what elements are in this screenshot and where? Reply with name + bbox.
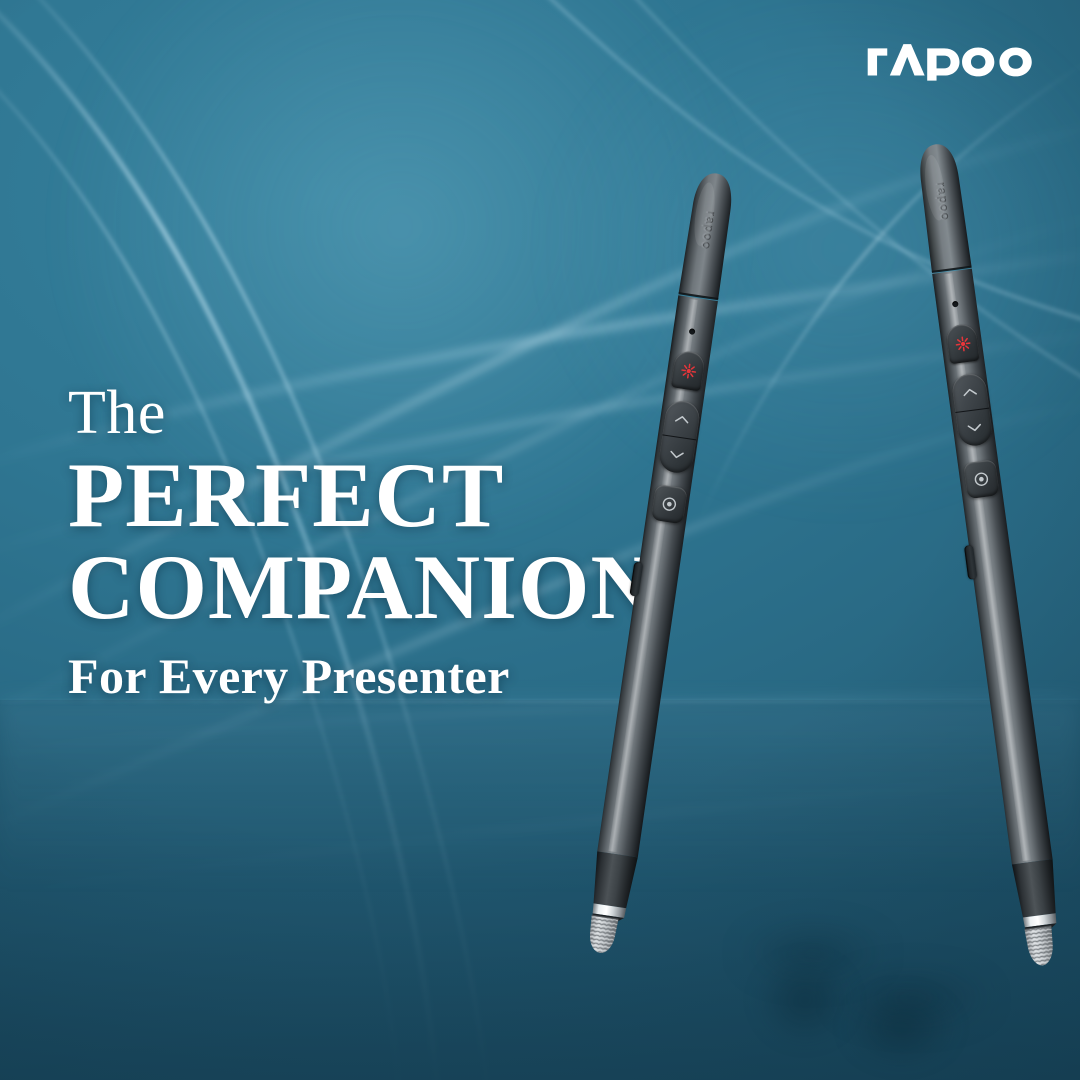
presenter-pen-left[interactable]: rapoo: [568, 167, 756, 959]
product-group: rapoo: [0, 0, 1080, 1080]
promo-canvas: The PERFECT COMPANION For Every Presente…: [0, 0, 1080, 1080]
presenter-pen-right[interactable]: rapoo: [902, 137, 1080, 969]
pen-left-body: [568, 167, 756, 959]
pen-right-body: [902, 137, 1080, 969]
pen-right-reflection: [826, 975, 976, 1080]
